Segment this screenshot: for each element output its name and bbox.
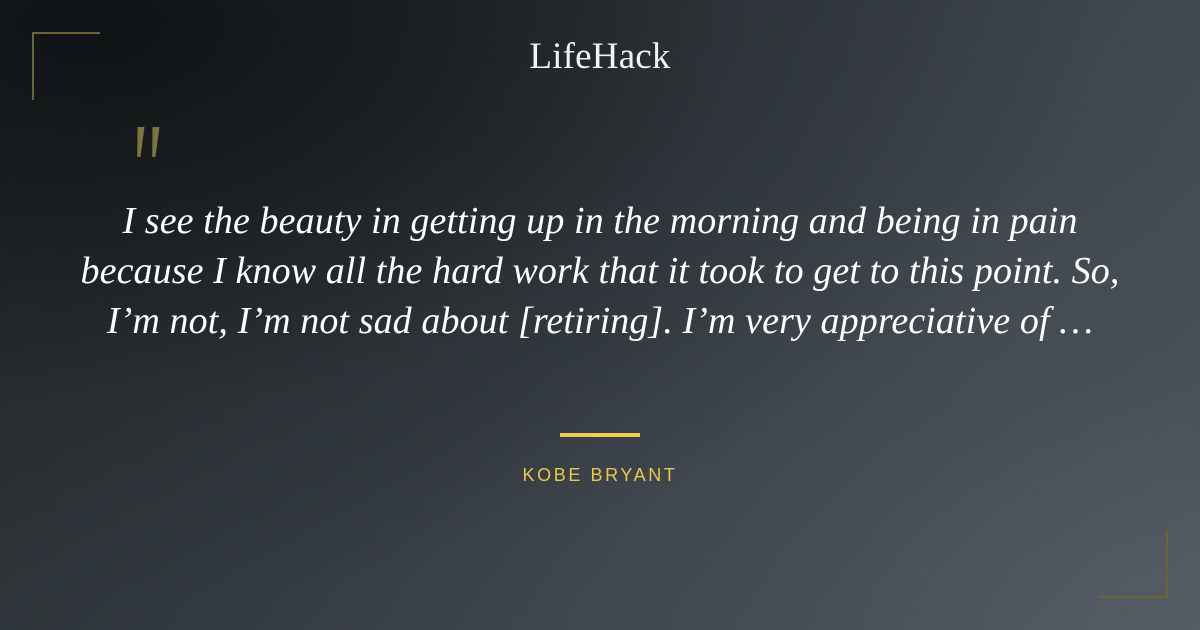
corner-bracket-bottom-right-icon [1100, 530, 1168, 598]
quote-body: I see the beauty in getting up in the mo… [60, 196, 1140, 346]
author-name: KOBE BRYANT [0, 465, 1200, 487]
double-quote-mark-icon [130, 126, 172, 166]
brand-logo: LifeHack [0, 38, 1200, 75]
quote-card: LifeHack I see the beauty in getting up … [0, 0, 1200, 630]
author-divider [560, 433, 640, 437]
